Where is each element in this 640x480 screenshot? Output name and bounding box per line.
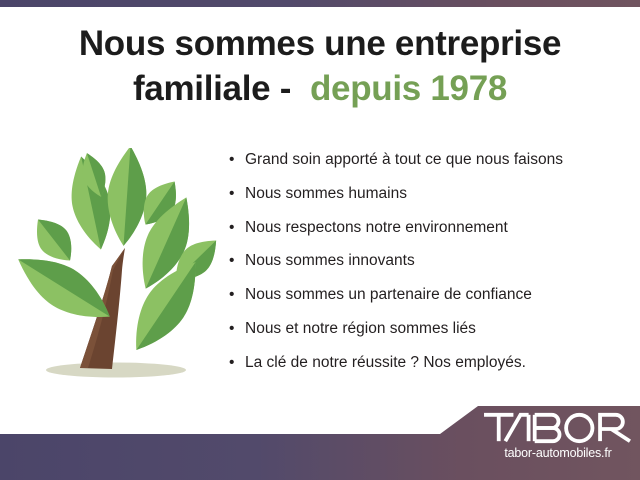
list-item: • Nous et notre région sommes liés [228, 319, 630, 338]
value-bullet-list: • Grand soin apporté à tout ce que nous … [228, 150, 630, 386]
bullet-dot-icon: • [229, 285, 234, 304]
list-item-label: La clé de notre réussite ? Nos employés. [245, 354, 526, 371]
ground-shadow [46, 363, 186, 378]
title-accent-since-year: depuis 1978 [310, 69, 507, 108]
list-item: • Grand soin apporté à tout ce que nous … [228, 150, 630, 169]
footer-band [0, 400, 640, 480]
title-line-2-main: familiale [133, 69, 270, 108]
bullet-dot-icon: • [229, 150, 234, 169]
bullet-dot-icon: • [229, 353, 234, 372]
list-item-label: Nous sommes innovants [245, 252, 415, 269]
top-accent-strip [0, 0, 640, 7]
list-item-label: Nous et notre région sommes liés [245, 320, 476, 337]
bullet-dot-icon: • [229, 251, 234, 270]
tree-illustration [8, 148, 220, 388]
list-item-label: Nous respectons notre environnement [245, 219, 508, 236]
title-dash: - [280, 69, 291, 108]
list-item: • Nous sommes innovants [228, 251, 630, 270]
bullet-dot-icon: • [229, 319, 234, 338]
slide-canvas: Nous sommes une entreprise familiale - d… [0, 0, 640, 480]
list-item: • La clé de notre réussite ? Nos employé… [228, 353, 630, 372]
list-item: • Nous respectons notre environnement [228, 218, 630, 237]
list-item: • Nous sommes un partenaire de confiance [228, 285, 630, 304]
list-item: • Nous sommes humains [228, 184, 630, 203]
list-item-label: Grand soin apporté à tout ce que nous fa… [245, 151, 563, 168]
bullet-dot-icon: • [229, 184, 234, 203]
bullet-dot-icon: • [229, 218, 234, 237]
list-item-label: Nous sommes humains [245, 185, 407, 202]
list-item-label: Nous sommes un partenaire de confiance [245, 286, 532, 303]
title-line-2: familiale - depuis 1978 [0, 67, 640, 112]
title-line-1: Nous sommes une entreprise [0, 22, 640, 67]
page-title: Nous sommes une entreprise familiale - d… [0, 22, 640, 112]
